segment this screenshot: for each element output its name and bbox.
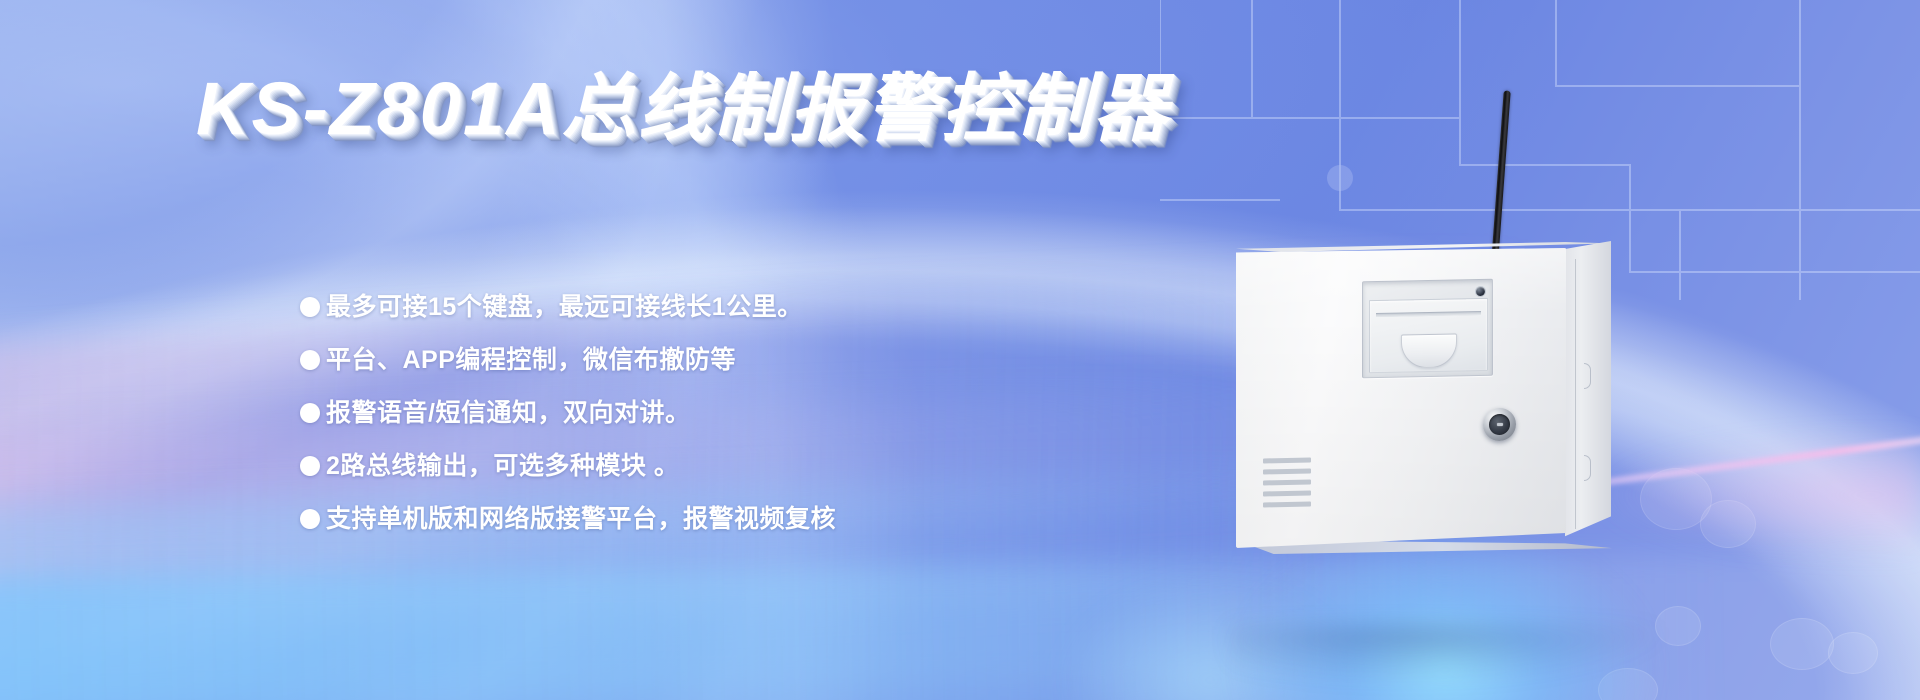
lock-keyway <box>1497 423 1503 426</box>
bullet-dot-icon <box>300 297 320 317</box>
status-led-icon <box>1476 287 1485 296</box>
list-item: 最多可接15个键盘，最远可接线长1公里。 <box>300 287 836 340</box>
page-title: KS-Z801A总线制报警控制器 <box>196 72 1170 146</box>
enclosure-body <box>1236 248 1608 554</box>
bullet-dot-icon <box>300 403 320 423</box>
bullet-dot-icon <box>300 350 320 370</box>
feature-text: 2路总线输出，可选多种模块 。 <box>326 446 679 482</box>
pull-tab-handle-icon <box>1401 333 1457 368</box>
feature-text: 支持单机版和网络版接警平台，报警视频复核 <box>326 499 836 535</box>
feature-text: 最多可接15个键盘，最远可接线长1公里。 <box>326 287 803 323</box>
product-banner: KS-Z801A总线制报警控制器 最多可接15个键盘，最远可接线长1公里。 平台… <box>0 0 1920 700</box>
bokeh-circle <box>1770 618 1834 670</box>
window-slot <box>1376 311 1481 317</box>
product-image-alarm-control-panel <box>1236 80 1756 640</box>
enclosure-side-face <box>1565 241 1611 547</box>
vent-slot <box>1263 480 1311 486</box>
vent-slot <box>1263 469 1311 475</box>
feature-list: 最多可接15个键盘，最远可接线长1公里。 平台、APP编程控制，微信布撤防等 报… <box>300 287 836 552</box>
lock-ring <box>1489 414 1510 435</box>
list-item: 报警语音/短信通知，双向对讲。 <box>300 393 836 446</box>
ventilation-slots-icon <box>1263 458 1311 514</box>
window-inner-panel <box>1369 298 1488 373</box>
list-item: 支持单机版和网络版接警平台，报警视频复核 <box>300 499 836 552</box>
vent-slot <box>1263 458 1311 464</box>
vent-slot <box>1263 502 1311 508</box>
list-item: 平台、APP编程控制，微信布撤防等 <box>300 340 836 393</box>
bokeh-circle <box>1828 632 1878 674</box>
side-latch <box>1584 363 1591 389</box>
list-item: 2路总线输出，可选多种模块 。 <box>300 446 836 499</box>
feature-text: 报警语音/短信通知，双向对讲。 <box>326 393 690 429</box>
side-latch <box>1584 455 1591 481</box>
display-window <box>1362 279 1493 379</box>
bullet-dot-icon <box>300 509 320 529</box>
bullet-dot-icon <box>300 456 320 476</box>
feature-text: 平台、APP编程控制，微信布撤防等 <box>326 340 736 376</box>
bokeh-circle <box>1598 668 1658 700</box>
side-seam <box>1575 259 1576 528</box>
vent-slot <box>1263 491 1311 497</box>
